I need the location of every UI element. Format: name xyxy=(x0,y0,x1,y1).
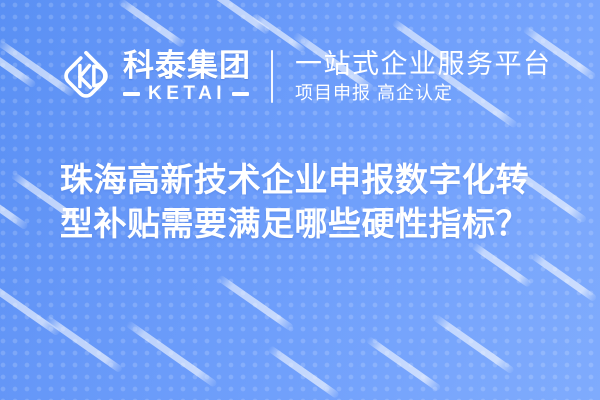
streak-decoration xyxy=(530,252,598,302)
banner-header: 科泰集团 KETAI 一站式企业服务平台 项目申报 高企认定 xyxy=(58,40,552,112)
streak-decoration xyxy=(267,345,340,399)
streak-decoration xyxy=(365,336,441,392)
promo-banner: 科泰集团 KETAI 一站式企业服务平台 项目申报 高企认定 珠海高新技术企业申… xyxy=(0,0,600,400)
header-divider xyxy=(271,50,273,103)
tagline-block: 一站式企业服务平台 项目申报 高企认定 xyxy=(295,49,552,104)
streak-decoration xyxy=(217,274,295,331)
brand-dash-left-icon xyxy=(123,92,140,96)
brand-dash-right-icon xyxy=(232,92,249,96)
brand-name-cn: 科泰集团 xyxy=(123,49,251,82)
ketai-diamond-kd-logo-icon xyxy=(58,48,114,104)
brand-wordmark: 科泰集团 KETAI xyxy=(123,49,251,104)
brand-name-en-row: KETAI xyxy=(123,84,251,104)
brand-name-en: KETAI xyxy=(140,84,232,104)
streak-decoration xyxy=(0,33,37,88)
brand-logo[interactable]: 科泰集团 KETAI xyxy=(58,43,251,109)
tagline-secondary: 项目申报 高企认定 xyxy=(295,82,552,104)
headline-text: 珠海高新技术企业申报数字化转型补贴需要满足哪些硬性指标？ xyxy=(60,158,546,246)
streak-decoration xyxy=(432,314,515,375)
streak-decoration xyxy=(44,315,123,374)
streak-decoration xyxy=(125,320,217,388)
streak-decoration xyxy=(0,276,61,337)
streak-decoration xyxy=(206,0,271,35)
tagline-primary: 一站式企业服务平台 xyxy=(295,49,552,79)
streak-decoration xyxy=(0,170,29,231)
streak-decoration xyxy=(471,242,532,288)
